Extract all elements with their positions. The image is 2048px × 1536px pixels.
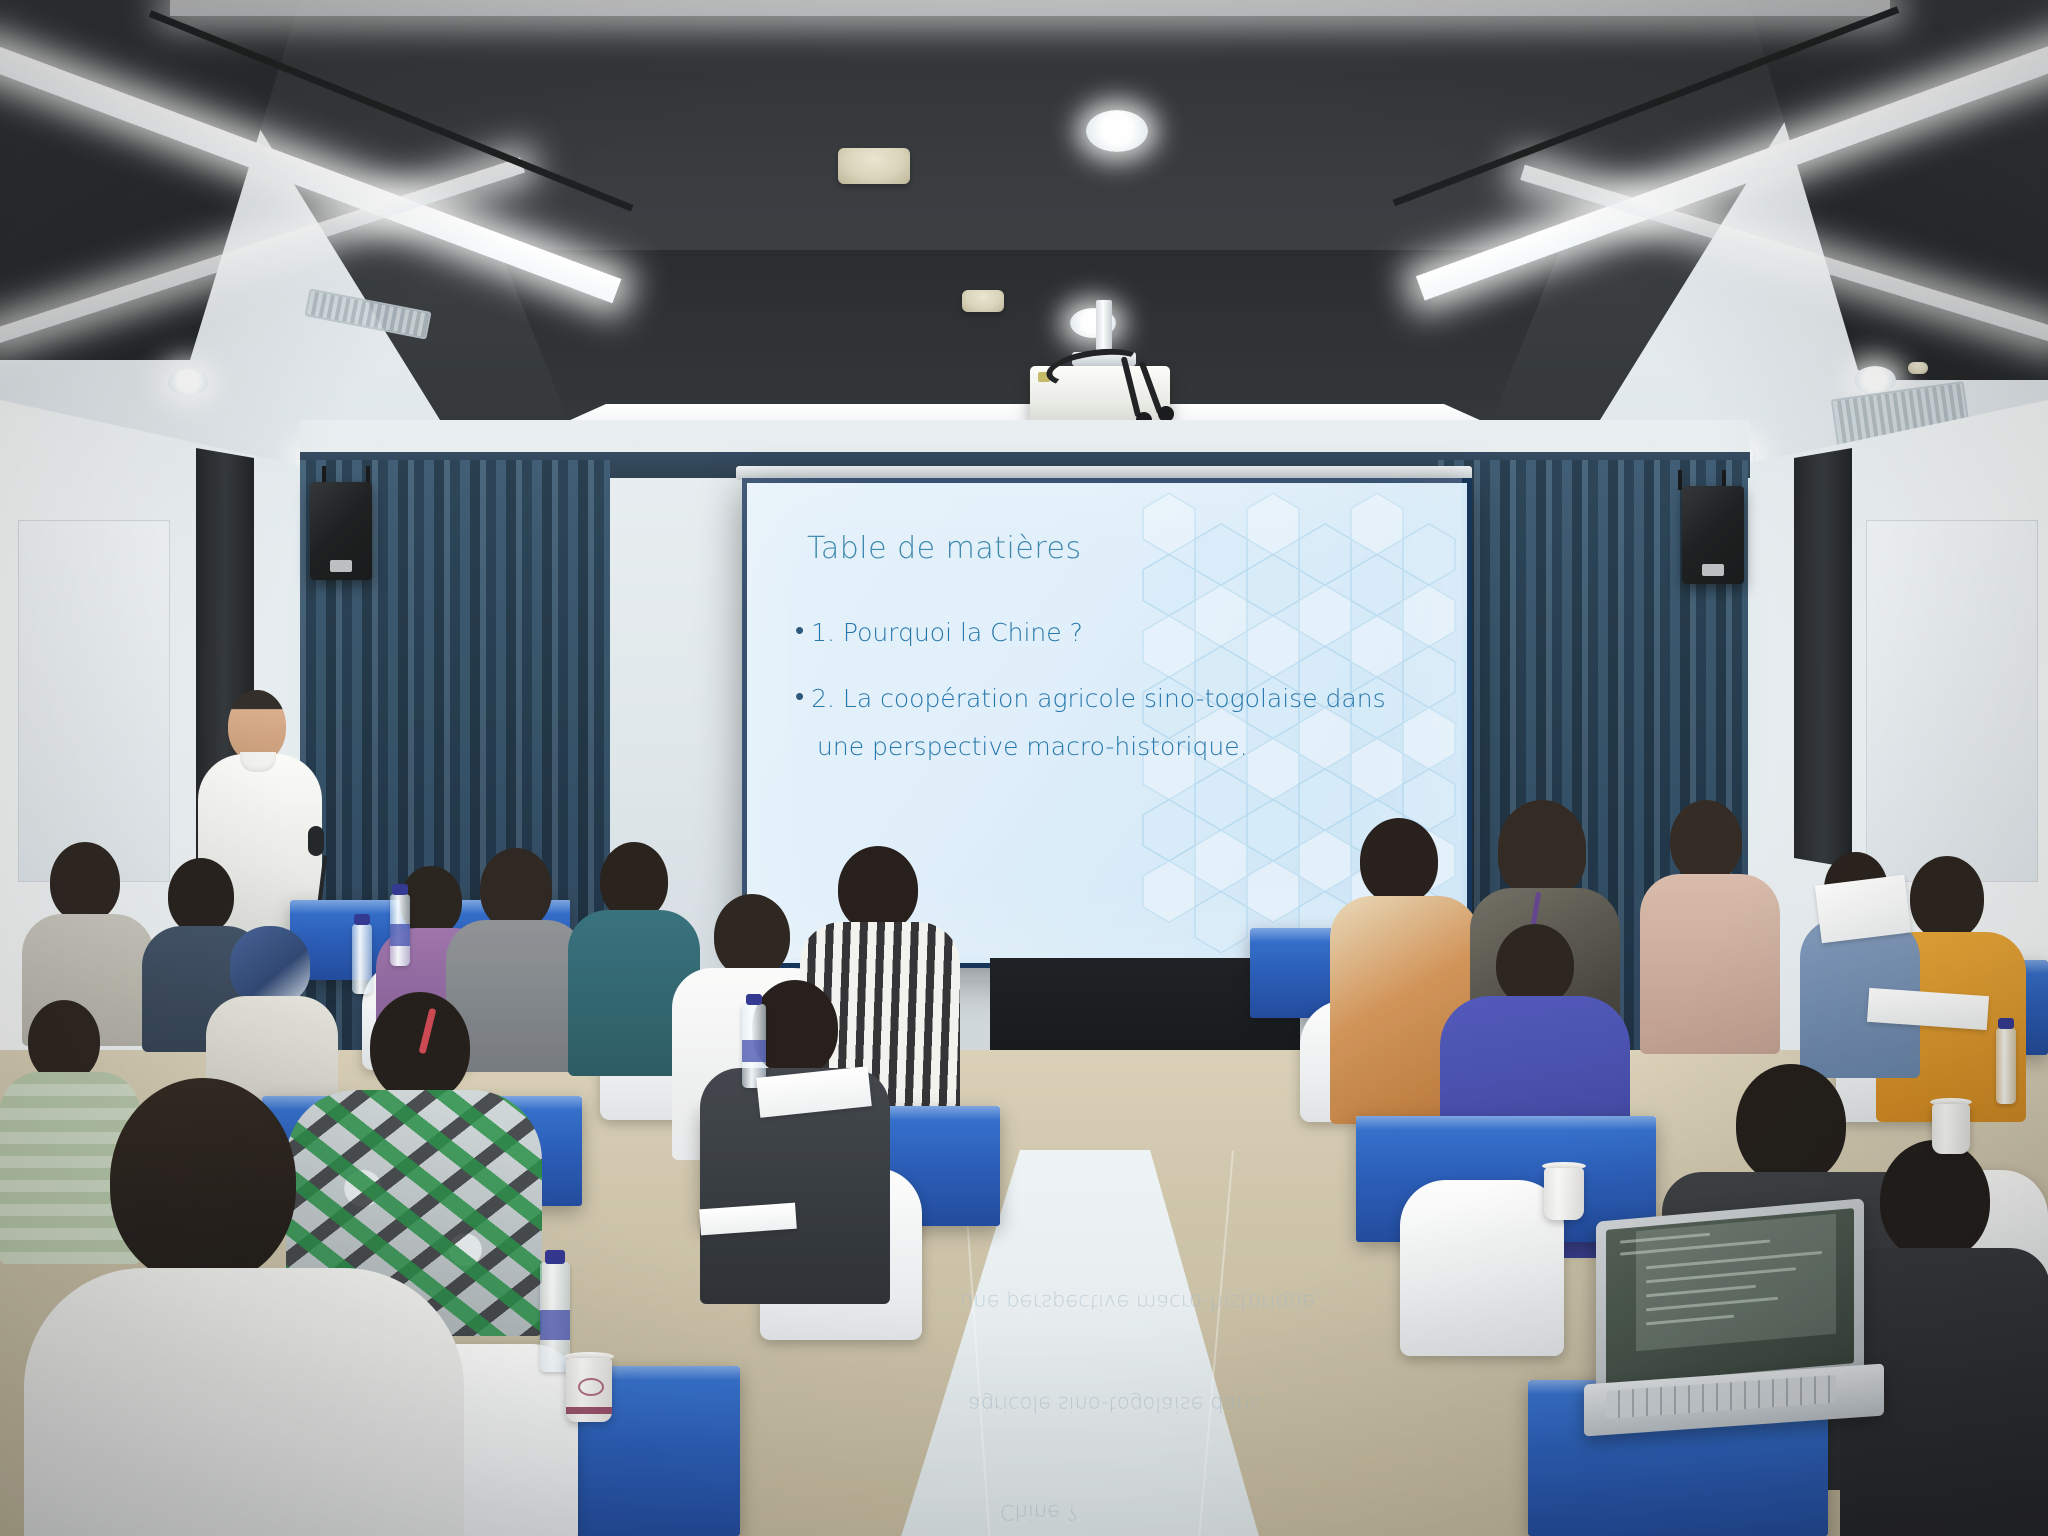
person-head [168, 858, 234, 934]
paper-cup-2 [1544, 1168, 1584, 1220]
bottle-cap-3 [746, 994, 762, 1005]
wall-speaker-left [310, 482, 372, 580]
slide-bullet-2: • 2. La coopération agricole sino-togola… [795, 677, 1425, 721]
floor-reflection-line-2: agricole sino-togolaise dans [968, 1392, 1261, 1416]
audience-person-front-right-dark [1840, 1140, 2048, 1536]
cove-light-top [170, 0, 1890, 16]
speaker-badge-right [1702, 564, 1724, 576]
smoke-detector-mid [962, 290, 1004, 312]
person-head [714, 894, 790, 978]
wall-pillar-right [1794, 448, 1852, 868]
audience-person-front-white-shirt [24, 1078, 464, 1536]
smoke-detector-right [1908, 362, 1928, 374]
bottle-cap-5 [1998, 1018, 2014, 1029]
paper-cup-1 [566, 1358, 612, 1422]
microphone-icon [308, 826, 324, 856]
bullet-marker-icon-2: • [795, 677, 804, 717]
cup-band-1 [566, 1407, 612, 1414]
person-head [110, 1078, 296, 1284]
wall-panel-right [1866, 520, 2038, 882]
person-head [1880, 1140, 1990, 1260]
person-head [838, 846, 918, 932]
bottle-cap-1 [392, 884, 408, 895]
bottle-label-3 [742, 1040, 766, 1062]
slide-bullet-2-text: 2. La coopération agricole sino-togolais… [811, 677, 1386, 721]
chair-mid-c [1400, 1180, 1564, 1356]
slide-bullet-2-cont-text: une perspective macro-historique. [817, 725, 1248, 769]
slide-bullet-list: • 1. Pourquoi la Chine ? • 2. La coopéra… [795, 611, 1425, 790]
downlight-left-1 [168, 368, 208, 396]
person-head [1736, 1064, 1846, 1184]
laptop-screen[interactable] [1606, 1208, 1854, 1385]
person-head [600, 842, 668, 920]
floor-reflection-line-3: Chine ? [1000, 1500, 1078, 1524]
paper-cup-3 [1932, 1104, 1970, 1154]
bullet-marker-icon: • [795, 611, 804, 651]
water-bottle-5 [1996, 1028, 2016, 1104]
person-head [1670, 800, 1742, 882]
cup-logo-icon [578, 1378, 604, 1396]
slide-title: Table de matières [807, 531, 1082, 566]
conference-room-photo: Table de matières • 1. Pourquoi la Chine… [0, 0, 2048, 1536]
speaker-badge-left [330, 560, 352, 572]
notepad-4 [1815, 875, 1911, 944]
person-torso [1640, 874, 1780, 1054]
wall-panel-left [18, 520, 170, 882]
person-head [1496, 924, 1574, 1006]
audience-person-dark-suit-front [700, 980, 890, 1300]
presenter-collar [240, 752, 276, 772]
bottle-label-4 [540, 1310, 570, 1340]
water-bottle-2 [352, 924, 372, 994]
person-head [28, 1000, 100, 1082]
bottle-cap-4 [545, 1250, 565, 1264]
floor-reflection-line-1: une perspective macro-historique. [960, 1290, 1322, 1314]
speaker-bracket-right-a [1678, 470, 1682, 490]
bottle-label-1 [390, 924, 410, 946]
slide-bullet-1: • 1. Pourquoi la Chine ? [795, 611, 1425, 655]
slide-bullet-2-continuation: une perspective macro-historique. [795, 725, 1425, 769]
downlight-right-1 [1854, 366, 1896, 394]
laptop-keyboard[interactable] [1606, 1375, 1836, 1419]
audience-person-right-woman [1640, 800, 1780, 1050]
downlight-ceiling-center [1086, 110, 1148, 152]
slide-bullet-1-text: 1. Pourquoi la Chine ? [811, 611, 1083, 655]
wall-speaker-right [1682, 486, 1744, 584]
person-head [480, 848, 552, 930]
person-head-updo [1498, 800, 1586, 896]
person-torso [24, 1268, 464, 1536]
smoke-detector-front [838, 148, 910, 184]
person-head [1910, 856, 1984, 940]
person-head [50, 842, 120, 922]
bottle-cap-2 [354, 914, 370, 925]
person-head [1360, 818, 1438, 904]
